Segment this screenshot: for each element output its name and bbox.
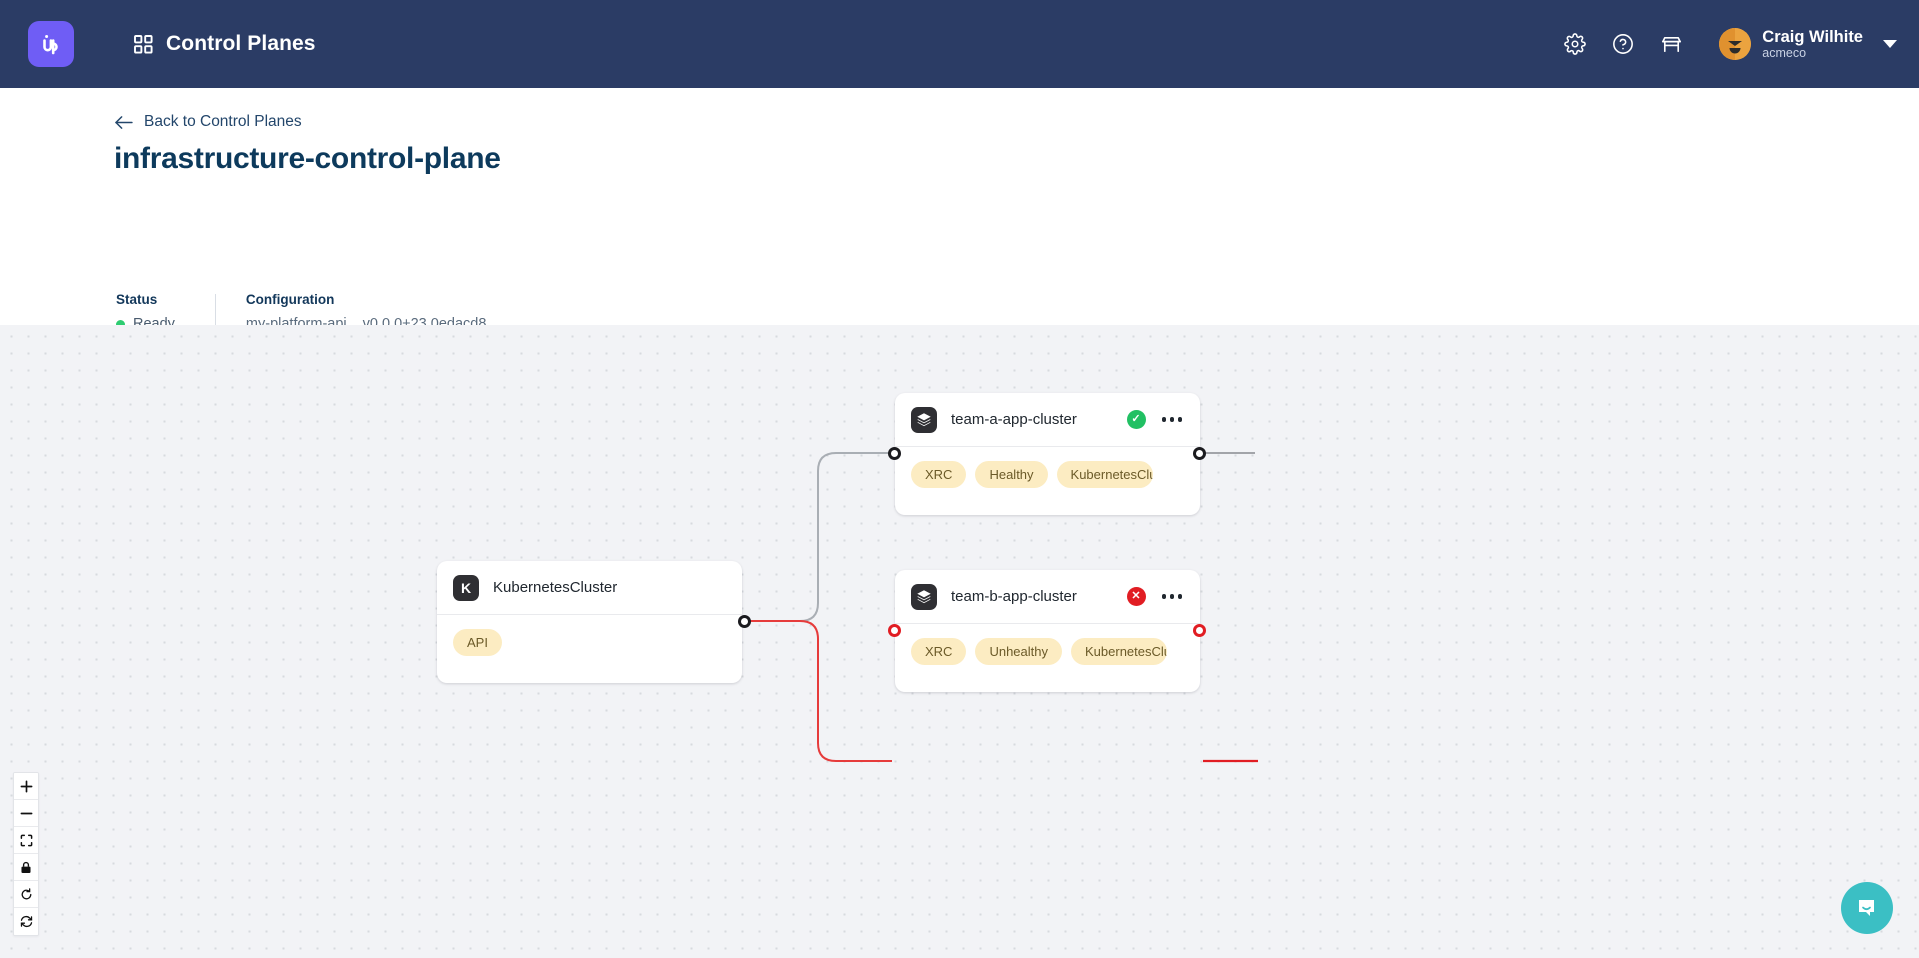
stack-layers-icon bbox=[911, 584, 937, 610]
canvas-view-toolbar bbox=[13, 772, 39, 936]
handle-kubernetescluster-out[interactable] bbox=[738, 615, 751, 628]
node-title: team-a-app-cluster bbox=[951, 411, 1077, 428]
node-status-area: ✕ bbox=[1127, 587, 1185, 606]
node-chip-row: API bbox=[437, 615, 742, 674]
back-link-label: Back to Control Planes bbox=[144, 113, 302, 131]
handle-team-a-out[interactable] bbox=[1193, 447, 1206, 460]
help-circle-icon[interactable] bbox=[1601, 22, 1645, 66]
edge-kubernetescluster-to-team-a bbox=[745, 453, 892, 621]
upbound-logo[interactable] bbox=[28, 21, 74, 67]
status-badge-unhealthy: ✕ bbox=[1127, 587, 1146, 606]
top-navigation-bar: Control Planes bbox=[0, 0, 1919, 88]
upbound-logo-icon bbox=[38, 31, 64, 57]
node-status-area: ✓ bbox=[1127, 410, 1185, 429]
zoom-in-button[interactable] bbox=[14, 773, 38, 800]
back-to-control-planes-link[interactable]: Back to Control Planes bbox=[114, 113, 302, 131]
node-chip-row: XRC Unhealthy KubernetesCluster bbox=[895, 624, 1200, 683]
chat-widget-button[interactable] bbox=[1841, 882, 1893, 934]
node-header: team-a-app-cluster ✓ bbox=[895, 393, 1200, 447]
topbar-right-cluster: Craig Wilhite acmeco bbox=[1549, 22, 1919, 66]
status-label: Status bbox=[116, 292, 175, 307]
user-menu[interactable]: Craig Wilhite acmeco bbox=[1762, 28, 1863, 60]
stack-layers-icon bbox=[911, 407, 937, 433]
stack-layers-glyph bbox=[916, 589, 932, 605]
node-title: KubernetesCluster bbox=[493, 579, 617, 596]
graph-node-team-a-app-cluster[interactable]: team-a-app-cluster ✓ XRC Healthy Kuberne… bbox=[895, 393, 1200, 515]
edge-kubernetescluster-to-team-b bbox=[745, 621, 892, 761]
marketplace-icon[interactable] bbox=[1649, 22, 1693, 66]
user-org: acmeco bbox=[1762, 46, 1863, 60]
lock-icon bbox=[20, 861, 32, 874]
kebab-menu-icon[interactable] bbox=[1160, 590, 1185, 603]
node-chip: KubernetesCluster bbox=[1071, 638, 1167, 665]
reset-rotate-icon bbox=[20, 888, 33, 901]
handle-team-b-out[interactable] bbox=[1193, 624, 1206, 637]
lock-button[interactable] bbox=[14, 854, 38, 881]
arrow-left-icon bbox=[114, 115, 133, 130]
page-header: Back to Control Planes infrastructure-co… bbox=[0, 88, 1919, 325]
zoom-out-button[interactable] bbox=[14, 800, 38, 827]
handle-team-a-in[interactable] bbox=[888, 447, 901, 460]
fit-view-icon bbox=[20, 834, 33, 847]
reset-button[interactable] bbox=[14, 881, 38, 908]
refresh-sync-icon bbox=[20, 915, 33, 928]
node-header: K KubernetesCluster bbox=[437, 561, 742, 615]
node-chip: Healthy bbox=[975, 461, 1047, 488]
node-chip-row: XRC Healthy KubernetesCluster bbox=[895, 447, 1200, 506]
refresh-button[interactable] bbox=[14, 908, 38, 935]
kebab-menu-icon[interactable] bbox=[1160, 413, 1185, 426]
avatar-face-icon bbox=[1719, 28, 1751, 60]
chevron-down-icon[interactable] bbox=[1883, 40, 1897, 48]
plus-icon bbox=[20, 780, 33, 793]
graph-node-team-b-app-cluster[interactable]: team-b-app-cluster ✕ XRC Unhealthy Kuber… bbox=[895, 570, 1200, 692]
node-chip: XRC bbox=[911, 461, 966, 488]
configuration-label: Configuration bbox=[246, 292, 486, 307]
nav-title[interactable]: Control Planes bbox=[166, 32, 316, 56]
node-chip: KubernetesCluster bbox=[1057, 461, 1153, 488]
node-title: team-b-app-cluster bbox=[951, 588, 1077, 605]
fit-view-button[interactable] bbox=[14, 827, 38, 854]
node-chip: API bbox=[453, 629, 502, 656]
node-chip: XRC bbox=[911, 638, 966, 665]
settings-gear-icon[interactable] bbox=[1553, 22, 1597, 66]
graph-node-kubernetescluster[interactable]: K KubernetesCluster API bbox=[437, 561, 742, 683]
avatar[interactable] bbox=[1719, 28, 1751, 60]
stack-layers-glyph bbox=[916, 412, 932, 428]
graph-canvas[interactable]: K KubernetesCluster API team-a-app-clust… bbox=[0, 325, 1919, 958]
user-name: Craig Wilhite bbox=[1762, 28, 1863, 46]
page-title: infrastructure-control-plane bbox=[114, 142, 501, 176]
minus-icon bbox=[20, 807, 33, 820]
kubernetes-logo-icon: K bbox=[453, 575, 479, 601]
node-header: team-b-app-cluster ✕ bbox=[895, 570, 1200, 624]
handle-team-b-in[interactable] bbox=[888, 624, 901, 637]
status-badge-healthy: ✓ bbox=[1127, 410, 1146, 429]
chat-bubble-icon bbox=[1854, 895, 1880, 921]
grid-icon[interactable] bbox=[134, 35, 153, 54]
node-chip: Unhealthy bbox=[975, 638, 1062, 665]
